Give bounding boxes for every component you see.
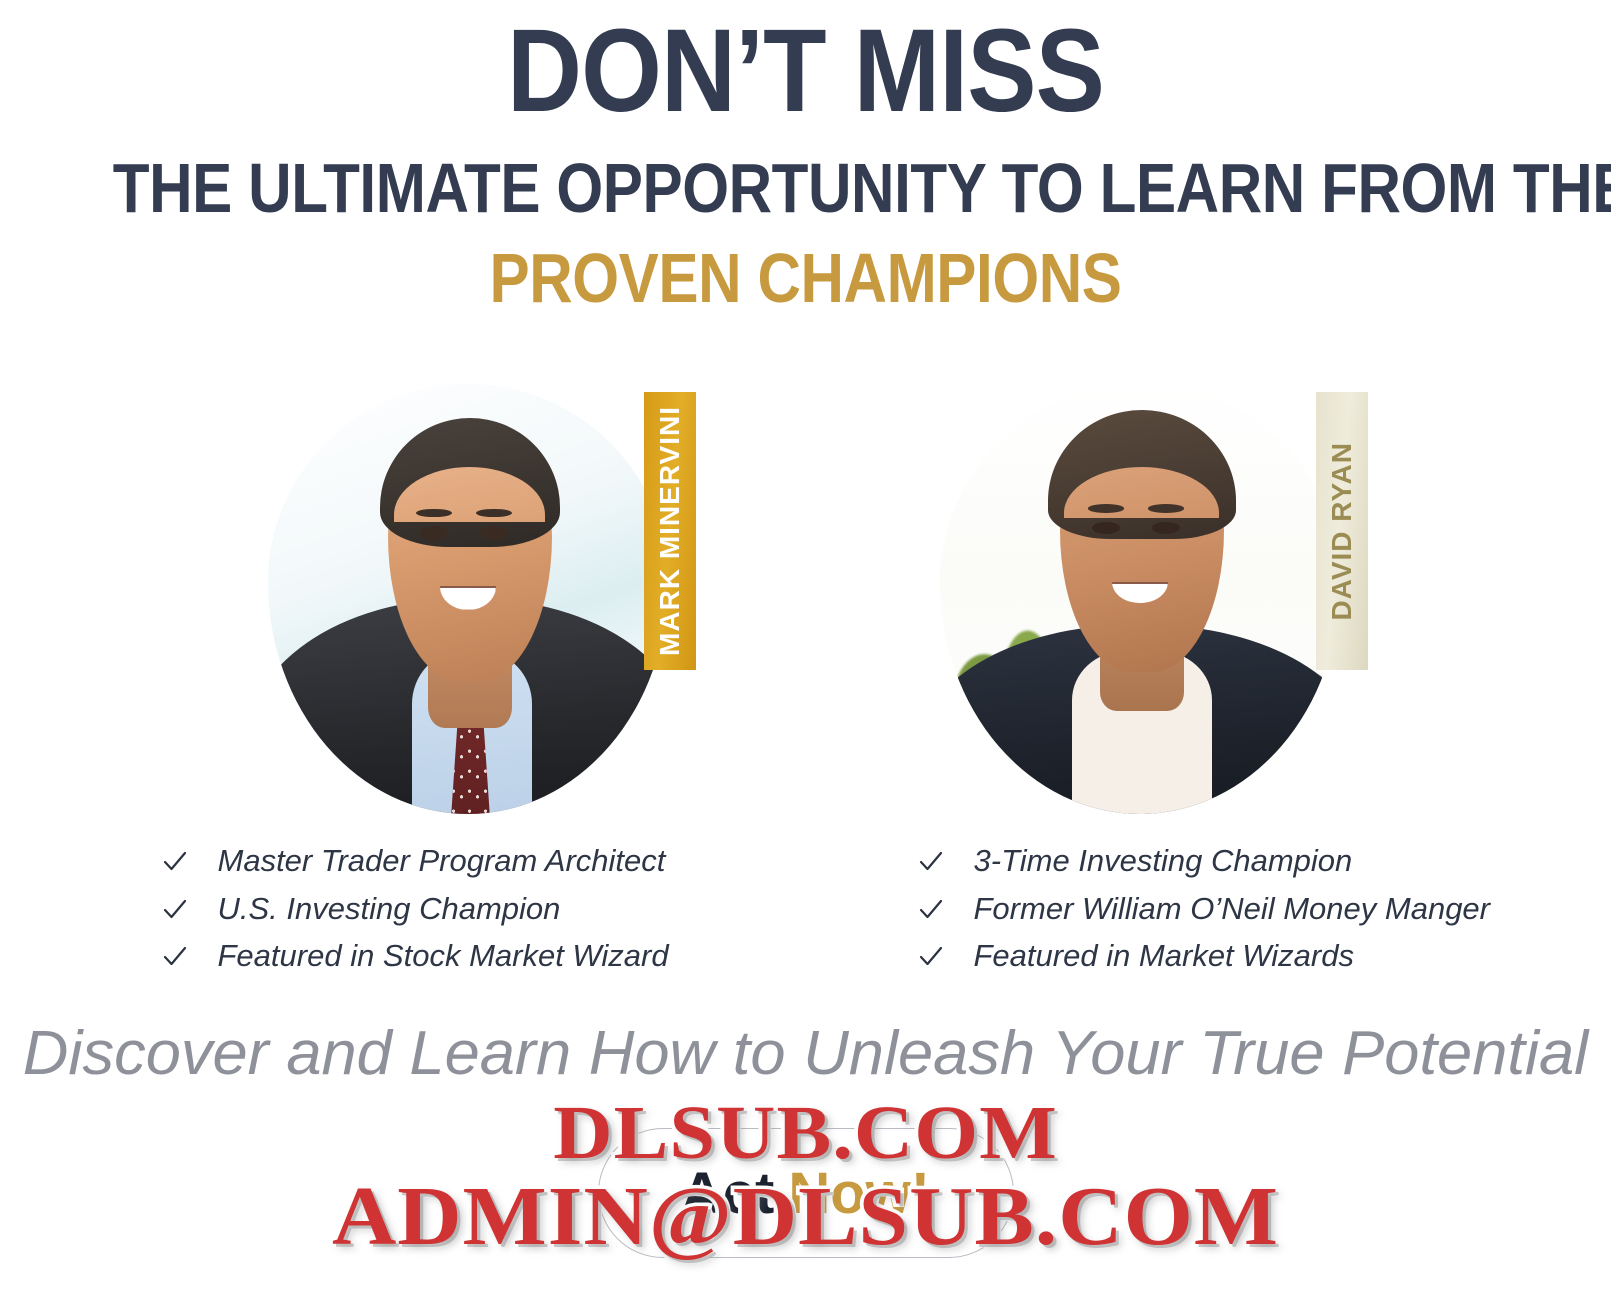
name-banner-mark-minervini: MARK MINERVINI	[644, 392, 696, 670]
name-banner-david-ryan: DAVID RYAN	[1316, 392, 1368, 670]
speakers-row: MARK MINERVINI	[0, 380, 1611, 820]
watermark-email: ADMIN@DLSUB.COM	[0, 1168, 1611, 1265]
portrait-eyebrow-left	[416, 509, 452, 518]
list-item: 3-Time Investing Champion	[908, 843, 1468, 880]
portrait-eye-right	[1152, 522, 1180, 535]
portrait-wrap-david-ryan: DAVID RYAN	[922, 380, 1362, 820]
list-item-label: Featured in Market Wizards	[974, 938, 1354, 975]
bullet-list-david-ryan: 3-Time Investing Champion Former William…	[908, 843, 1468, 986]
portrait-eye-left	[1092, 522, 1120, 535]
speaker-name-label: MARK MINERVINI	[654, 406, 686, 656]
list-item-label: 3-Time Investing Champion	[974, 843, 1353, 880]
speaker-name-label: DAVID RYAN	[1326, 442, 1358, 621]
list-item-label: Former William O’Neil Money Manger	[974, 891, 1491, 928]
list-item: U.S. Investing Champion	[144, 891, 704, 928]
avatar-david-ryan	[940, 384, 1340, 814]
portrait-eye-left	[420, 526, 448, 540]
bullets-row: Master Trader Program Architect U.S. Inv…	[0, 843, 1611, 986]
page-title: DON’T MISS	[97, 10, 1515, 134]
check-icon	[162, 897, 188, 923]
check-icon	[162, 849, 188, 875]
bullet-list-mark-minervini: Master Trader Program Architect U.S. Inv…	[144, 843, 704, 986]
portrait-eyebrow-right	[1148, 504, 1184, 513]
list-item: Featured in Market Wizards	[908, 938, 1468, 975]
portrait-eyebrow-left	[1088, 504, 1124, 513]
list-item: Featured in Stock Market Wizard	[144, 938, 704, 975]
check-icon	[918, 897, 944, 923]
list-item: Former William O’Neil Money Manger	[908, 891, 1468, 928]
headline-block: DON’T MISS THE ULTIMATE OPPORTUNITY TO L…	[0, 0, 1611, 319]
headline-accent: PROVEN CHAMPIONS	[113, 238, 1498, 319]
list-item: Master Trader Program Architect	[144, 843, 704, 880]
portrait-wrap-mark-minervini: MARK MINERVINI	[250, 380, 690, 820]
portrait-eye-right	[480, 526, 508, 540]
check-icon	[918, 944, 944, 970]
speaker-card-mark-minervini: MARK MINERVINI	[250, 380, 690, 820]
list-item-label: Master Trader Program Architect	[218, 843, 666, 880]
speaker-card-david-ryan: DAVID RYAN	[922, 380, 1362, 820]
portrait-eyebrow-right	[476, 509, 512, 518]
list-item-label: U.S. Investing Champion	[218, 891, 561, 928]
list-item-label: Featured in Stock Market Wizard	[218, 938, 669, 975]
headline-subtitle: THE ULTIMATE OPPORTUNITY TO LEARN FROM T…	[113, 148, 1498, 229]
check-icon	[162, 944, 188, 970]
portrait-image-david-ryan	[940, 384, 1340, 814]
tagline: Discover and Learn How to Unleash Your T…	[0, 1018, 1611, 1089]
check-icon	[918, 849, 944, 875]
avatar-mark-minervini	[268, 384, 668, 814]
portrait-image-mark-minervini	[268, 384, 668, 814]
watermark-site: DLSUB.COM	[0, 1090, 1611, 1177]
